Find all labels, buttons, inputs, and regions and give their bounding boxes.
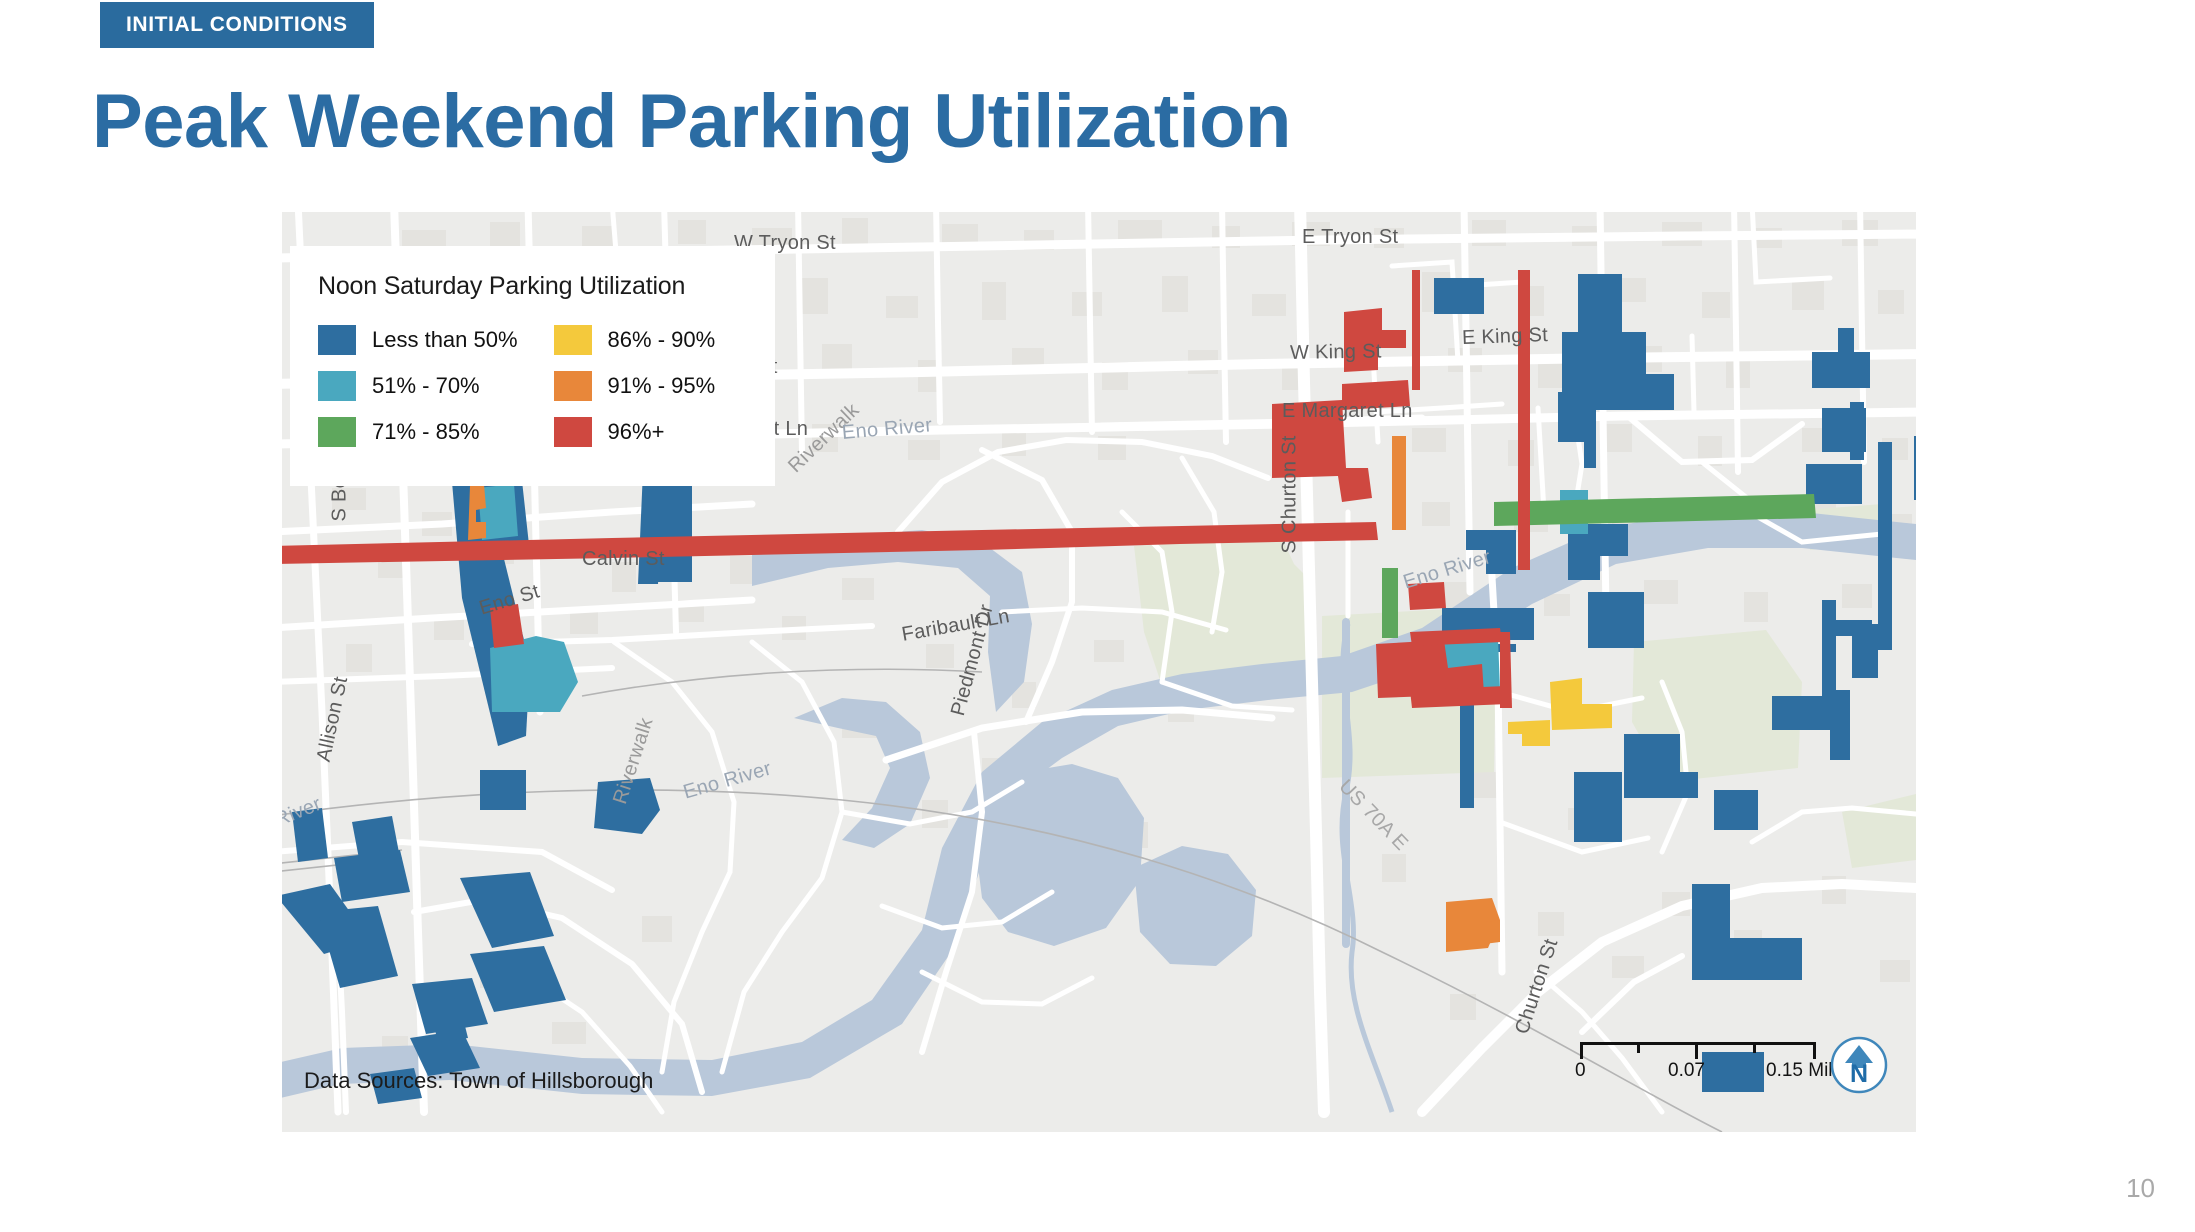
slide: INITIAL CONDITIONS Peak Weekend Parking … (0, 0, 2195, 1232)
legend-swatch-96plus (554, 417, 592, 447)
legend-item: 51% - 70% (318, 371, 518, 401)
north-arrow-icon: N (1830, 1036, 1888, 1094)
legend-item: 96%+ (554, 417, 716, 447)
scale-bar: 0 0.07 0.15 Miles (1580, 1034, 1816, 1088)
legend-columns: Less than 50% 51% - 70% 71% - 85% 86% - … (318, 325, 747, 447)
legend-item: 91% - 95% (554, 371, 716, 401)
map-figure[interactable]: W Tryon StE Tryon StW King StW King StE … (282, 212, 1916, 1132)
scale-bar-line (1580, 1042, 1816, 1045)
scale-tick-max (1813, 1042, 1816, 1059)
scale-tick-mid (1695, 1042, 1698, 1059)
scale-label-mid: 0.07 (1668, 1060, 1705, 1082)
legend-swatch-86-90 (554, 325, 592, 355)
scale-tick-3 (1753, 1042, 1756, 1053)
legend-label: 96%+ (608, 419, 665, 445)
scale-tick-0 (1580, 1042, 1583, 1059)
legend-label: Less than 50% (372, 327, 518, 353)
page-title: Peak Weekend Parking Utilization (92, 82, 1291, 162)
page-number: 10 (2126, 1173, 2155, 1204)
legend-item: 86% - 90% (554, 325, 716, 355)
legend-item: Less than 50% (318, 325, 518, 355)
scale-label-min: 0 (1575, 1060, 1586, 1082)
data-source-note: Data Sources: Town of Hillsborough (304, 1068, 653, 1094)
legend-swatch-91-95 (554, 371, 592, 401)
legend-label: 91% - 95% (608, 373, 716, 399)
legend-label: 51% - 70% (372, 373, 480, 399)
legend-item: 71% - 85% (318, 417, 518, 447)
svg-text:N: N (1850, 1060, 1868, 1088)
legend-column-left: Less than 50% 51% - 70% 71% - 85% (318, 325, 518, 447)
legend-label: 86% - 90% (608, 327, 716, 353)
legend-swatch-lt50 (318, 325, 356, 355)
map-legend: Noon Saturday Parking Utilization Less t… (290, 246, 775, 486)
legend-column-right: 86% - 90% 91% - 95% 96%+ (554, 325, 716, 447)
eyebrow-badge: INITIAL CONDITIONS (100, 2, 374, 48)
legend-swatch-71-85 (318, 417, 356, 447)
scale-tick-1 (1637, 1042, 1640, 1053)
legend-label: 71% - 85% (372, 419, 480, 445)
legend-title: Noon Saturday Parking Utilization (318, 272, 747, 301)
legend-swatch-51-70 (318, 371, 356, 401)
